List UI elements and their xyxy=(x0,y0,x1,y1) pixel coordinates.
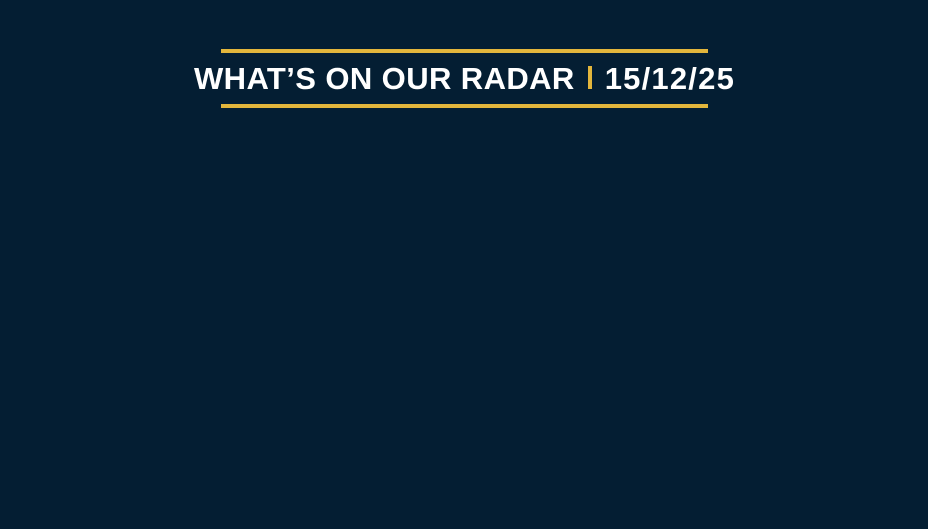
page-title: WHAT’S ON OUR RADAR xyxy=(194,63,575,94)
banner-date: 15/12/25 xyxy=(605,63,735,94)
banner-title-inner: WHAT’S ON OUR RADAR 15/12/25 xyxy=(194,63,735,94)
title-separator-bar xyxy=(588,66,592,89)
title-banner: WHAT’S ON OUR RADAR 15/12/25 xyxy=(221,49,708,108)
slide-canvas: WHAT’S ON OUR RADAR 15/12/25 xyxy=(0,0,928,529)
banner-bottom-rule xyxy=(221,104,708,108)
banner-title-row: WHAT’S ON OUR RADAR 15/12/25 xyxy=(221,53,708,104)
slide-body-empty-area xyxy=(0,110,928,529)
